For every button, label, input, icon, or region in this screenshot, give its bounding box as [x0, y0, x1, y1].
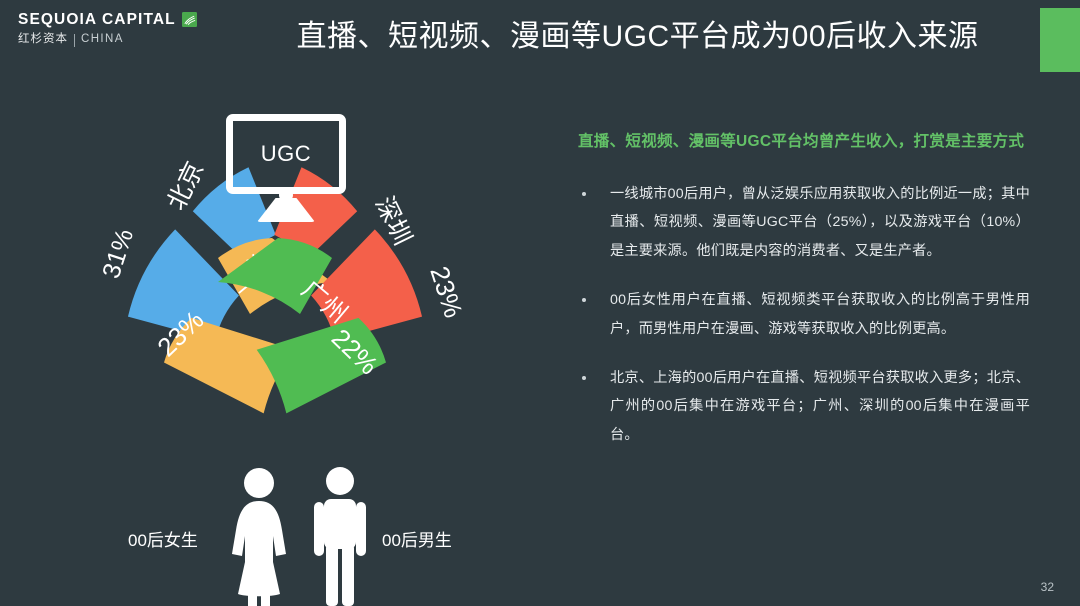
segment-beijing-percent[interactable]: 31% — [97, 226, 239, 341]
male-caption: 00后男生 — [382, 526, 452, 551]
female-caption: 00后女生 — [128, 526, 198, 551]
logo-region-label: CHINA — [81, 34, 124, 46]
slide-root: SEQUOIA CAPITAL 红杉资本 CHINA 直播、短视频、漫画等UGC… — [0, 0, 1080, 606]
list-item: 北京、上海的00后用户在直播、短视频平台获取收入更多；北京、广州的00后集中在游… — [578, 364, 1030, 449]
segment-guangzhou-percent[interactable]: 22% — [257, 318, 386, 413]
page-number: 32 — [1041, 580, 1054, 594]
monitor-base — [257, 198, 315, 222]
bullet-dot-icon — [582, 298, 586, 302]
people-group: 00后女生 00后男生 25% 24% — [0, 466, 550, 606]
fan-diagram: 北京 31% 上海 23% 深圳 — [0, 84, 550, 554]
sequoia-leaf-icon — [182, 12, 197, 27]
segment-label: 23% — [424, 263, 469, 322]
monitor-label: UGC — [261, 141, 311, 167]
bullet-text: 北京、上海的00后用户在直播、短视频平台获取收入更多；北京、广州的00后集中在游… — [610, 370, 1030, 443]
bullet-dot-icon — [582, 192, 586, 196]
insight-bullet-list: 一线城市00后用户，曾从泛娱乐应用获取收入的比例近一成；其中直播、短视频、漫画等… — [578, 180, 1030, 449]
bullet-text: 一线城市00后用户，曾从泛娱乐应用获取收入的比例近一成；其中直播、短视频、漫画等… — [610, 186, 1030, 259]
monitor-icon: UGC — [226, 114, 346, 222]
page-title: 直播、短视频、漫画等UGC平台成为00后收入来源 — [250, 18, 1025, 56]
bullet-text: 00后女性用户在直播、短视频类平台获取收入的比例高于男性用户，而男性用户在漫画、… — [610, 292, 1030, 336]
male-figure-icon — [310, 466, 370, 606]
insight-lede: 直播、短视频、漫画等UGC平台均曾产生收入，打赏是主要方式 — [578, 128, 1030, 156]
logo-chinese-name: 红杉资本 — [18, 34, 68, 46]
brand-logo: SEQUOIA CAPITAL 红杉资本 CHINA — [18, 12, 218, 47]
bullet-dot-icon — [582, 376, 586, 380]
logo-wordmark: SEQUOIA CAPITAL — [18, 12, 176, 28]
female-figure-icon — [228, 466, 290, 606]
list-item: 00后女性用户在直播、短视频类平台获取收入的比例高于男性用户，而男性用户在漫画、… — [578, 286, 1030, 343]
insights-panel: 直播、短视频、漫画等UGC平台均曾产生收入，打赏是主要方式 一线城市00后用户，… — [578, 128, 1030, 449]
list-item: 一线城市00后用户，曾从泛娱乐应用获取收入的比例近一成；其中直播、短视频、漫画等… — [578, 180, 1030, 265]
accent-block — [1040, 8, 1080, 72]
segment-label: 31% — [97, 226, 139, 282]
logo-divider — [74, 34, 75, 47]
